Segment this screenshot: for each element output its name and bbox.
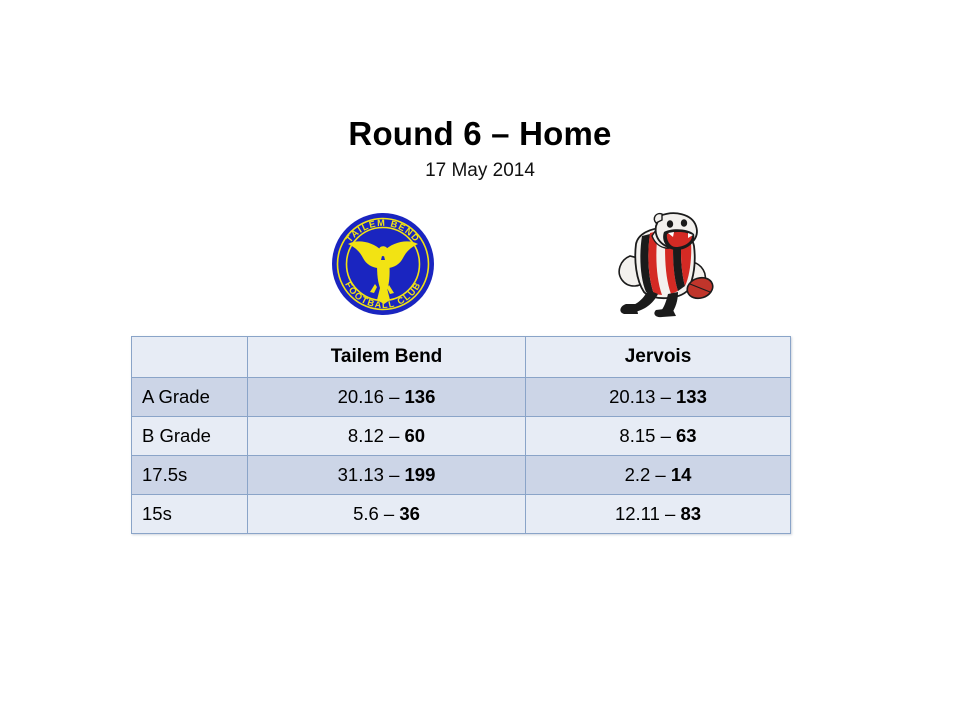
table-header-away-team: Jervois bbox=[526, 337, 791, 378]
score-total: 83 bbox=[680, 503, 701, 524]
grade-label-b-grade: B Grade bbox=[132, 417, 248, 456]
table-header-corner bbox=[132, 337, 248, 378]
score-dash: – bbox=[655, 464, 665, 485]
score-away-a-grade: 20.13 – 133 bbox=[526, 378, 791, 417]
score-goals: 20.16 bbox=[338, 386, 384, 407]
table-header-row: Tailem Bend Jervois bbox=[132, 337, 791, 378]
score-total: 60 bbox=[405, 425, 426, 446]
score-goals: 5.6 bbox=[353, 503, 379, 524]
score-dash: – bbox=[384, 503, 394, 524]
score-away-15s: 12.11 – 83 bbox=[526, 495, 791, 534]
score-home-b-grade: 8.12 – 60 bbox=[248, 417, 526, 456]
score-goals: 12.11 bbox=[615, 503, 660, 524]
table-row: 15s 5.6 – 36 12.11 – 83 bbox=[132, 495, 791, 534]
score-home-15s: 5.6 – 36 bbox=[248, 495, 526, 534]
logo-row: TAILEM BEND FOOTBALL CLUB bbox=[0, 204, 960, 322]
grade-label-17-5s: 17.5s bbox=[132, 456, 248, 495]
score-table: Tailem Bend Jervois A Grade 20.16 – 136 … bbox=[131, 336, 791, 534]
table-header-home-team: Tailem Bend bbox=[248, 337, 526, 378]
score-total: 133 bbox=[676, 386, 707, 407]
jervois-logo-icon bbox=[604, 204, 722, 319]
table-row: 17.5s 31.13 – 199 2.2 – 14 bbox=[132, 456, 791, 495]
score-away-17-5s: 2.2 – 14 bbox=[526, 456, 791, 495]
score-total: 136 bbox=[405, 386, 436, 407]
score-dash: – bbox=[389, 464, 399, 485]
score-dash: – bbox=[665, 503, 675, 524]
score-dash: – bbox=[389, 425, 399, 446]
grade-label-15s: 15s bbox=[132, 495, 248, 534]
tailem-bend-logo-icon: TAILEM BEND FOOTBALL CLUB bbox=[327, 208, 439, 318]
score-home-17-5s: 31.13 – 199 bbox=[248, 456, 526, 495]
score-away-b-grade: 8.15 – 63 bbox=[526, 417, 791, 456]
score-total: 14 bbox=[671, 464, 692, 485]
page-subtitle-date: 17 May 2014 bbox=[0, 160, 960, 183]
score-home-a-grade: 20.16 – 136 bbox=[248, 378, 526, 417]
score-goals: 31.13 bbox=[338, 464, 384, 485]
score-dash: – bbox=[661, 386, 671, 407]
score-goals: 20.13 bbox=[609, 386, 655, 407]
score-dash: – bbox=[389, 386, 399, 407]
score-total: 36 bbox=[399, 503, 420, 524]
score-total: 63 bbox=[676, 425, 697, 446]
score-dash: – bbox=[661, 425, 671, 446]
table-row: A Grade 20.16 – 136 20.13 – 133 bbox=[132, 378, 791, 417]
score-goals: 2.2 bbox=[625, 464, 651, 485]
page-title: Round 6 – Home bbox=[0, 116, 960, 153]
table-row: B Grade 8.12 – 60 8.15 – 63 bbox=[132, 417, 791, 456]
score-goals: 8.12 bbox=[348, 425, 384, 446]
score-table-container: Tailem Bend Jervois A Grade 20.16 – 136 … bbox=[131, 336, 790, 533]
score-total: 199 bbox=[405, 464, 436, 485]
grade-label-a-grade: A Grade bbox=[132, 378, 248, 417]
score-goals: 8.15 bbox=[619, 425, 655, 446]
